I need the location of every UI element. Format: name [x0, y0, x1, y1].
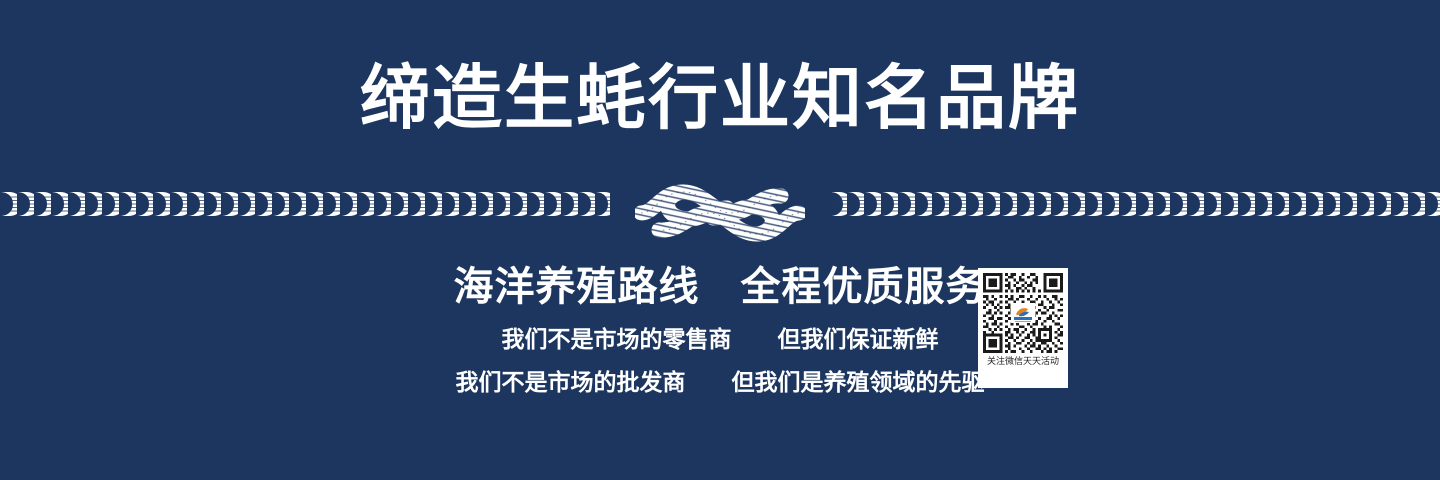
rope-divider: [0, 178, 1440, 248]
rope-line-left-icon: [0, 191, 610, 217]
copy-block: 海洋养殖路线 全程优质服务 我们不是市场的零售商 但我们保证新鲜 我们不是市场的…: [0, 262, 1440, 403]
subtitle: 海洋养殖路线 全程优质服务: [0, 262, 1440, 312]
rope-knot-icon: [635, 178, 805, 248]
brand-logo-icon: [1011, 303, 1035, 323]
qr-code-card[interactable]: 关注微信天天活动: [978, 268, 1068, 388]
qr-caption: 关注微信天天活动: [987, 356, 1059, 367]
tagline-wholesale: 我们不是市场的批发商 但我们是养殖领域的先驱: [0, 361, 1440, 404]
qr-code-area[interactable]: [983, 273, 1063, 353]
promo-banner: 缔造生蚝行业知名品牌: [0, 0, 1440, 480]
tagline-retail: 我们不是市场的零售商 但我们保证新鲜: [0, 318, 1440, 361]
page-title: 缔造生蚝行业知名品牌: [0, 62, 1440, 136]
rope-line-right-icon: [830, 191, 1440, 217]
